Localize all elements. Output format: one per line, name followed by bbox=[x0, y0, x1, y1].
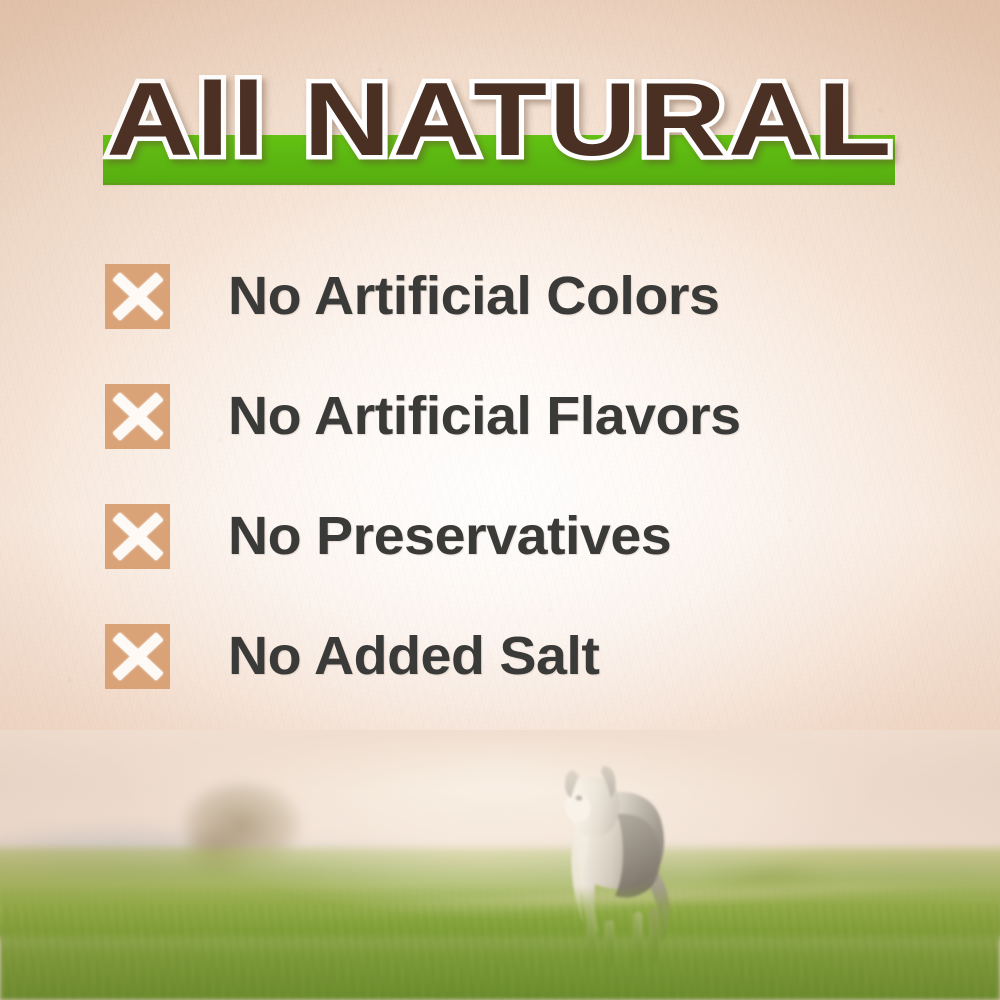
photo-top-fade bbox=[0, 730, 1000, 790]
x-mark-glyph bbox=[105, 624, 170, 689]
x-mark-glyph bbox=[105, 384, 170, 449]
headline-text: All NATURAL bbox=[0, 62, 1000, 178]
x-mark-glyph bbox=[105, 504, 170, 569]
landscape-photo bbox=[0, 730, 1000, 1000]
x-mark-icon bbox=[105, 384, 170, 449]
list-item-label: No Artificial Flavors bbox=[228, 376, 741, 456]
list-item: No Artificial Flavors bbox=[0, 370, 1000, 490]
headline-banner: All NATURAL bbox=[0, 62, 1000, 202]
list-item: No Preservatives bbox=[0, 490, 1000, 610]
list-item-label: No Artificial Colors bbox=[228, 256, 719, 336]
list-item-label: No Added Salt bbox=[228, 616, 599, 696]
poster-canvas: All NATURAL No Artificial Colors No Arti… bbox=[0, 0, 1000, 1000]
x-mark-icon bbox=[105, 624, 170, 689]
list-item: No Added Salt bbox=[0, 610, 1000, 730]
x-mark-icon bbox=[105, 264, 170, 329]
list-item: No Artificial Colors bbox=[0, 250, 1000, 370]
x-mark-icon bbox=[105, 504, 170, 569]
headline-label: All NATURAL bbox=[106, 62, 893, 178]
list-item-label: No Preservatives bbox=[228, 496, 671, 576]
green-banner-shadow bbox=[103, 183, 895, 187]
benefit-checklist: No Artificial Colors No Artificial Flavo… bbox=[0, 250, 1000, 730]
x-mark-glyph bbox=[105, 264, 170, 329]
